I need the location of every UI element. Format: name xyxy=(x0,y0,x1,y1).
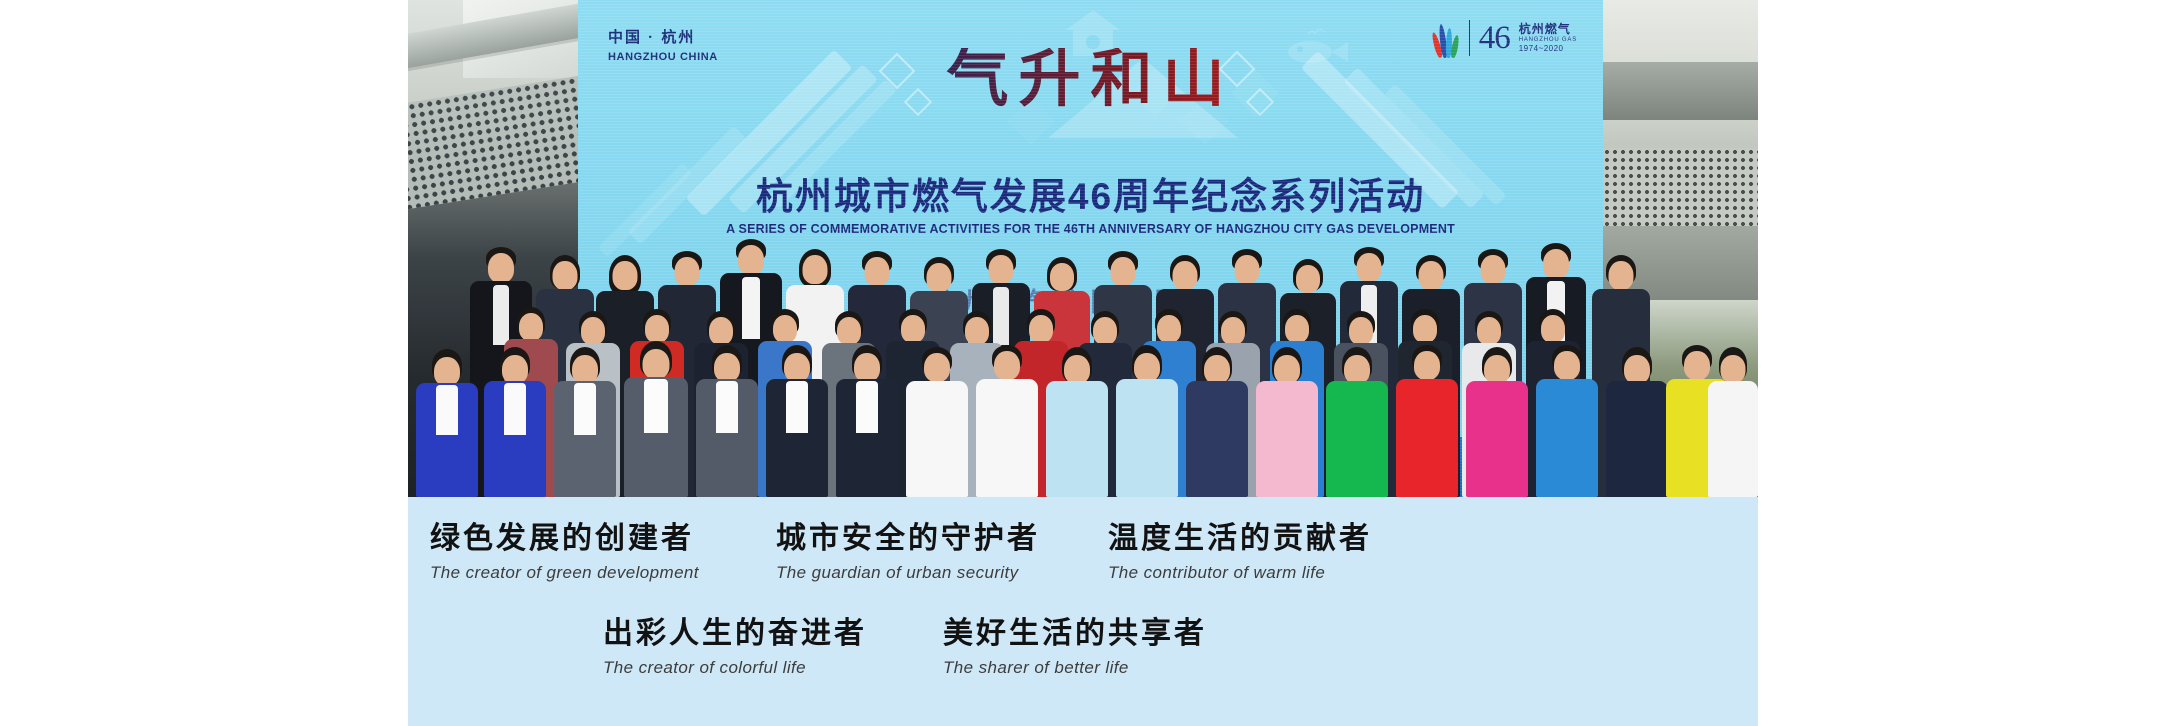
slogan-item-5: 美好生活的共享者 The sharer of better life xyxy=(943,617,1207,678)
person xyxy=(624,341,688,497)
person xyxy=(1326,347,1388,497)
person xyxy=(1046,347,1108,497)
event-group-photo: 中国 · 杭州 HANGZHOU CHINA 46 杭州燃气 HANGZHOU … xyxy=(408,0,1758,497)
slogan-item-4: 出彩人生的奋进者 The creator of colorful life xyxy=(603,617,867,678)
artistic-title: 气升和山 xyxy=(578,48,1603,110)
person xyxy=(906,347,968,497)
slogan-cn: 绿色发展的创建者 xyxy=(430,522,699,555)
venue-ceiling-beam xyxy=(1603,62,1758,120)
person xyxy=(1708,347,1758,497)
slogan-item-3: 温度生活的贡献者 The contributor of warm life xyxy=(1108,522,1372,583)
slogan-en: The creator of colorful life xyxy=(603,658,867,678)
person xyxy=(766,345,828,497)
person xyxy=(976,345,1038,497)
location-cn: 中国 · 杭州 xyxy=(608,26,718,47)
slogan-en: The contributor of warm life xyxy=(1108,563,1372,583)
person xyxy=(696,345,758,497)
person xyxy=(1536,345,1598,497)
slogan-item-1: 绿色发展的创建者 The creator of green developmen… xyxy=(430,522,699,583)
slogan-en: The guardian of urban security xyxy=(776,563,1040,583)
logo-name-en: HANGZHOU GAS xyxy=(1519,37,1577,45)
content-column: 中国 · 杭州 HANGZHOU CHINA 46 杭州燃气 HANGZHOU … xyxy=(408,0,1758,726)
slogan-en: The sharer of better life xyxy=(943,658,1207,678)
slogan-item-2: 城市安全的守护者 The guardian of urban security xyxy=(776,522,1040,583)
slogan-cn: 美好生活的共享者 xyxy=(943,617,1207,650)
slogan-cn: 出彩人生的奋进者 xyxy=(603,617,867,650)
person xyxy=(554,347,616,497)
person xyxy=(1256,347,1318,497)
person xyxy=(1116,345,1178,497)
slogan-cn: 温度生活的贡献者 xyxy=(1108,522,1372,555)
person xyxy=(1606,347,1668,497)
slogan-panel: 绿色发展的创建者 The creator of green developmen… xyxy=(408,497,1758,726)
logo-name-cn: 杭州燃气 xyxy=(1519,22,1577,37)
slogan-cn: 城市安全的守护者 xyxy=(776,522,1040,555)
page-root: 中国 · 杭州 HANGZHOU CHINA 46 杭州燃气 HANGZHOU … xyxy=(0,0,2179,726)
person xyxy=(836,345,898,497)
person xyxy=(416,349,478,497)
person xyxy=(1466,347,1528,497)
person xyxy=(484,347,546,497)
slogan-en: The creator of green development xyxy=(430,563,699,583)
person xyxy=(1396,345,1458,497)
person xyxy=(1186,347,1248,497)
crowd-group xyxy=(408,167,1758,497)
